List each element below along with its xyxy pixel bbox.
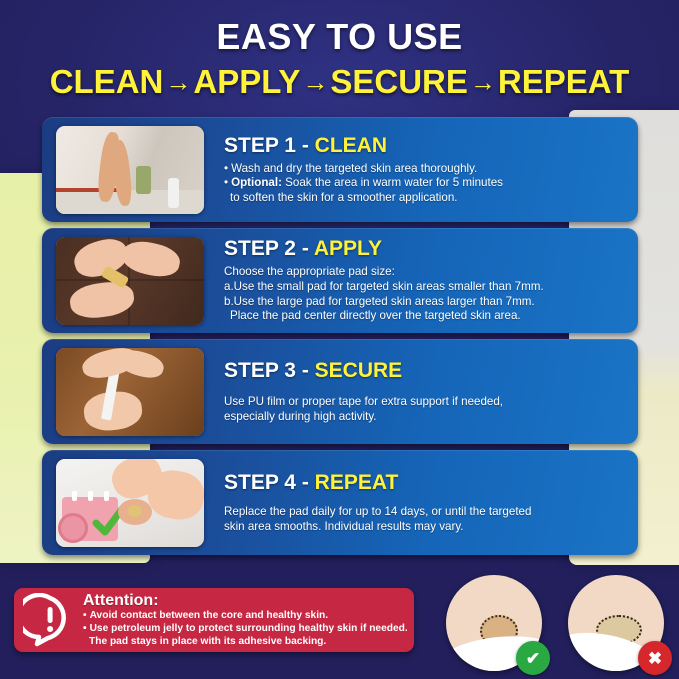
flow-step-secure: SECURE	[330, 63, 468, 100]
step-2-line-4: Place the pad center directly over the t…	[224, 309, 630, 324]
step-4-body: STEP 4 - REPEAT Replace the pad daily fo…	[204, 471, 638, 534]
step-2-accent: APPLY	[314, 237, 382, 260]
step-3-lines: Use PU film or proper tape for extra sup…	[224, 395, 630, 424]
step-2-body: STEP 2 - APPLY Choose the appropriate pa…	[204, 237, 638, 323]
taping-foot-photo	[56, 348, 204, 436]
step-1-lines: Wash and dry the targeted skin area thor…	[224, 162, 630, 206]
cross-badge: ✖	[638, 641, 672, 675]
step-4-thumbnail	[56, 459, 204, 547]
comparison-images: ✔ ✖	[440, 575, 670, 679]
step-1-line-3: to soften the skin for a smoother applic…	[224, 191, 630, 206]
attention-line-1: Avoid contact between the core and healt…	[83, 610, 408, 623]
step-card-3: STEP 3 - SECURE Use PU film or proper ta…	[42, 339, 638, 444]
step-4-lines: Replace the pad daily for up to 14 days,…	[224, 505, 630, 534]
step-1-title: STEP 1 - CLEAN	[224, 134, 630, 158]
step-3-title: STEP 3 - SECURE	[224, 359, 630, 383]
step-3-thumbnail	[56, 348, 204, 436]
replacing-pad-calendar-photo	[56, 459, 204, 547]
header: EASY TO USE CLEAN→APPLY→SECURE→REPEAT	[0, 0, 679, 102]
step-1-accent: CLEAN	[315, 134, 387, 157]
step-1-body: STEP 1 - CLEAN Wash and dry the targeted…	[204, 134, 638, 206]
step-3-line-2: especially during high activity.	[224, 410, 630, 425]
attention-line-3: The pad stays in place with its adhesive…	[83, 636, 408, 649]
step-2-lines: Choose the appropriate pad size: a.Use t…	[224, 265, 630, 323]
step-3-line-1: Use PU film or proper tape for extra sup…	[224, 395, 630, 410]
attention-banner: Attention: Avoid contact between the cor…	[14, 588, 414, 652]
attention-body: Attention: Avoid contact between the cor…	[77, 591, 408, 648]
step-2-line-2: a.Use the small pad for targeted skin ar…	[224, 280, 630, 295]
step-card-1: STEP 1 - CLEAN Wash and dry the targeted…	[42, 117, 638, 222]
attention-lines: Avoid contact between the core and healt…	[83, 610, 408, 648]
step-3-label: STEP 3 -	[224, 359, 315, 382]
process-flow-title: CLEAN→APPLY→SECURE→REPEAT	[0, 56, 679, 102]
step-card-2: STEP 2 - APPLY Choose the appropriate pa…	[42, 228, 638, 333]
shower-legs-photo	[56, 126, 204, 214]
attention-title: Attention:	[83, 591, 408, 610]
step-1-line-2: Optional: Soak the area in warm water fo…	[224, 176, 630, 191]
flow-step-repeat: REPEAT	[498, 63, 629, 100]
step-4-line-1: Replace the pad daily for up to 14 days,…	[224, 505, 630, 520]
flow-step-clean: CLEAN	[50, 63, 164, 100]
check-badge: ✔	[516, 641, 550, 675]
step-1-thumbnail	[56, 126, 204, 214]
step-3-accent: SECURE	[315, 359, 403, 382]
step-2-thumbnail	[56, 237, 204, 325]
step-3-body: STEP 3 - SECURE Use PU film or proper ta…	[204, 359, 638, 424]
step-4-label: STEP 4 -	[224, 471, 315, 494]
step-2-line-1: Choose the appropriate pad size:	[224, 265, 630, 280]
arrow-icon-2: →	[300, 67, 330, 97]
step-card-4: STEP 4 - REPEAT Replace the pad daily fo…	[42, 450, 638, 555]
exclamation-speech-bubble-icon	[23, 593, 77, 647]
step-1-line-2-bold: Optional:	[231, 176, 282, 189]
page-title: EASY TO USE	[0, 0, 679, 56]
step-1-label: STEP 1 -	[224, 134, 315, 157]
step-1-line-2-text: Soak the area in warm water for 5 minute…	[282, 176, 503, 189]
attention-line-2: Use petroleum jelly to protect surroundi…	[83, 623, 408, 636]
applying-pad-to-toe-photo	[56, 237, 204, 325]
step-2-label: STEP 2 -	[224, 237, 314, 260]
step-2-title: STEP 2 - APPLY	[224, 237, 630, 261]
steps-list: STEP 1 - CLEAN Wash and dry the targeted…	[42, 117, 638, 555]
step-4-title: STEP 4 - REPEAT	[224, 471, 630, 495]
step-4-accent: REPEAT	[315, 471, 399, 494]
step-2-line-3: b.Use the large pad for targeted skin ar…	[224, 295, 630, 310]
flow-step-apply: APPLY	[193, 63, 300, 100]
arrow-icon-3: →	[468, 67, 498, 97]
arrow-icon-1: →	[163, 67, 193, 97]
infographic-root: EASY TO USE CLEAN→APPLY→SECURE→REPEAT ST…	[0, 0, 679, 679]
step-4-line-2: skin area smooths. Individual results ma…	[224, 520, 630, 535]
step-1-line-1: Wash and dry the targeted skin area thor…	[224, 162, 630, 177]
